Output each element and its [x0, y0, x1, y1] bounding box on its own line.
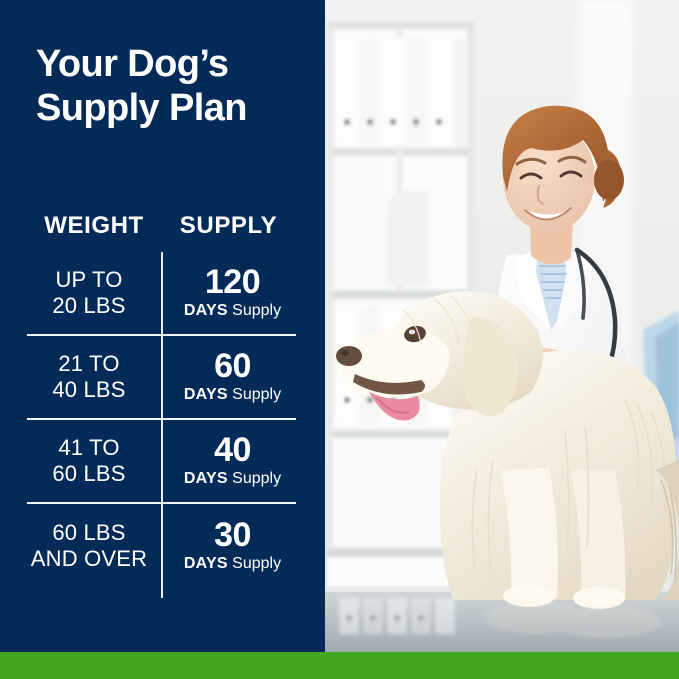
supply-word: Supply — [232, 302, 281, 319]
table-row: 21 TO 40 LBS 60 DAYS Supply — [27, 336, 296, 418]
page-title-line-1: Your Dog’s — [36, 42, 306, 86]
weight-line-2: 20 LBS — [27, 293, 151, 319]
weight-line-1: 21 TO — [27, 351, 151, 377]
weight-line-2: 60 LBS — [27, 461, 151, 487]
table-row: UP TO 20 LBS 120 DAYS Supply — [27, 252, 296, 334]
supply-cell: 40 DAYS Supply — [161, 433, 296, 490]
days-number: 60 — [169, 349, 296, 384]
supply-cell: 30 DAYS Supply — [161, 518, 296, 575]
weight-cell: 41 TO 60 LBS — [27, 435, 161, 487]
table-row: 60 LBS AND OVER 30 DAYS Supply — [27, 504, 296, 588]
days-supply-label: DAYS Supply — [169, 301, 296, 321]
supply-word: Supply — [232, 555, 281, 572]
table-body: UP TO 20 LBS 120 DAYS Supply 21 TO 40 LB… — [27, 252, 296, 588]
column-header-weight: WEIGHT — [27, 212, 161, 240]
supply-plan-infographic: Your Dog’s Supply Plan WEIGHT SUPPLY UP … — [0, 0, 679, 679]
weight-line-2: AND OVER — [27, 546, 151, 572]
supply-plan-table: WEIGHT SUPPLY UP TO 20 LBS 120 DAYS Supp… — [27, 212, 296, 588]
weight-cell: 21 TO 40 LBS — [27, 351, 161, 403]
days-number: 40 — [169, 433, 296, 468]
weight-line-1: 60 LBS — [27, 520, 151, 546]
weight-cell: UP TO 20 LBS — [27, 267, 161, 319]
days-supply-label: DAYS Supply — [169, 469, 296, 489]
table-header-row: WEIGHT SUPPLY — [27, 212, 296, 252]
supply-cell: 120 DAYS Supply — [161, 265, 296, 322]
page-title-line-2: Supply Plan — [36, 86, 306, 130]
supply-word: Supply — [232, 386, 281, 403]
days-word: DAYS — [184, 386, 228, 403]
vet-dog-photo-illustration — [325, 0, 679, 652]
bottom-accent-bar — [0, 652, 679, 679]
days-word: DAYS — [184, 470, 228, 487]
page-title: Your Dog’s Supply Plan — [36, 42, 306, 131]
days-number: 120 — [169, 265, 296, 300]
supply-word: Supply — [232, 470, 281, 487]
navy-info-panel: Your Dog’s Supply Plan WEIGHT SUPPLY UP … — [0, 0, 325, 652]
weight-cell: 60 LBS AND OVER — [27, 520, 161, 572]
days-supply-label: DAYS Supply — [169, 385, 296, 405]
days-word: DAYS — [184, 555, 228, 572]
weight-line-1: UP TO — [27, 267, 151, 293]
supply-cell: 60 DAYS Supply — [161, 349, 296, 406]
weight-line-2: 40 LBS — [27, 377, 151, 403]
column-header-supply: SUPPLY — [161, 212, 296, 240]
days-number: 30 — [169, 518, 296, 553]
days-supply-label: DAYS Supply — [169, 554, 296, 574]
vet-dog-photo — [325, 0, 679, 652]
table-row: 41 TO 60 LBS 40 DAYS Supply — [27, 420, 296, 502]
days-word: DAYS — [184, 302, 228, 319]
weight-line-1: 41 TO — [27, 435, 151, 461]
